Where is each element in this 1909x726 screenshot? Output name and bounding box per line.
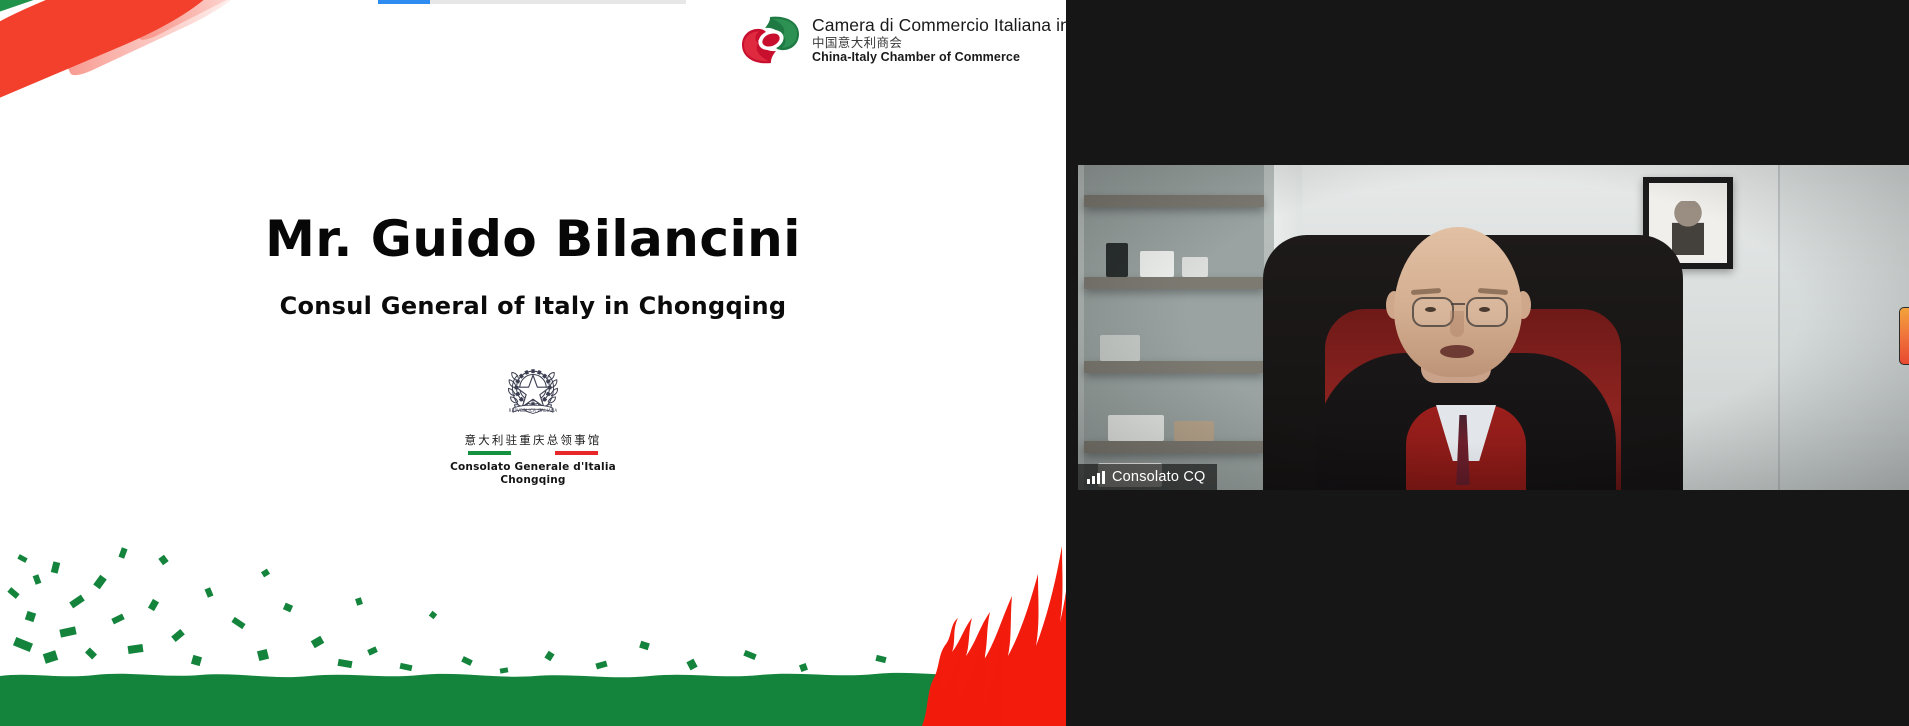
confetti-fragment xyxy=(33,574,42,585)
tricolor-green xyxy=(468,451,511,455)
eyeglass-lens-right xyxy=(1466,297,1508,327)
confetti-fragment xyxy=(25,611,36,622)
cicc-name-italian: Camera di Commercio Italiana in Cina xyxy=(812,15,1066,36)
confetti-fragment xyxy=(148,599,159,611)
confetti-fragment xyxy=(367,646,378,655)
shelf-object xyxy=(1182,257,1208,277)
eyeglass-lens-left xyxy=(1412,297,1454,327)
svg-text:REPVBBLICA ITALIANA: REPVBBLICA ITALIANA xyxy=(509,408,558,413)
shelf-object xyxy=(1108,415,1164,441)
presentation-progress-track[interactable] xyxy=(378,0,686,4)
shared-slide: Camera di Commercio Italiana in Cina 中国意… xyxy=(0,0,1066,726)
consulate-name-italian-line2: Chongqing xyxy=(450,474,616,487)
confetti-fragment xyxy=(639,641,650,650)
consulate-name-chinese: 意大利驻重庆总领事馆 xyxy=(465,432,602,448)
shelf-board xyxy=(1084,361,1264,373)
cicc-swirl-logo-icon xyxy=(740,14,802,66)
participant-sweater xyxy=(1406,405,1526,490)
confetti-fragment xyxy=(686,659,697,671)
shelf-board xyxy=(1084,441,1264,453)
cicc-name-chinese: 中国意大利商会 xyxy=(812,36,1066,51)
shelf-board xyxy=(1084,277,1264,289)
signal-bars-icon xyxy=(1087,471,1105,484)
speaker-title: Consul General of Italy in Chongqing xyxy=(0,294,1066,318)
confetti-fragment xyxy=(13,637,33,652)
participant-mouth xyxy=(1440,345,1474,358)
shelf-object xyxy=(1174,421,1214,441)
italian-tricolor-bar xyxy=(468,451,598,455)
confetti-fragment xyxy=(85,648,97,660)
consulate-name-italian-line1: Consolato Generale d'Italia xyxy=(450,461,616,474)
confetti-fragment xyxy=(43,650,58,664)
confetti-fragment xyxy=(743,650,756,660)
confetti-fragment xyxy=(171,629,185,642)
confetti-fragment xyxy=(544,651,554,661)
cicc-name-english: China-Italy Chamber of Commerce xyxy=(812,50,1066,65)
participant-video-tile[interactable]: Consolato CQ xyxy=(1078,165,1909,490)
consulate-name-italian: Consolato Generale d'Italia Chongqing xyxy=(450,461,616,487)
participant-name-badge: Consolato CQ xyxy=(1078,464,1217,490)
confetti-fragment xyxy=(231,617,245,629)
confetti-fragment xyxy=(355,597,363,606)
wall-panel-right xyxy=(1780,165,1909,490)
shelf-board xyxy=(1084,195,1264,207)
shelf-object xyxy=(1106,243,1128,277)
confetti-fragment xyxy=(257,649,269,661)
confetti-fragment xyxy=(461,656,473,666)
confetti-fragment xyxy=(283,603,293,613)
confetti-fragment xyxy=(191,655,202,666)
confetti-fragment xyxy=(429,611,437,619)
confetti-fragment xyxy=(311,636,325,648)
confetti-fragment xyxy=(51,561,60,573)
speaker-name: Mr. Guido Bilancini xyxy=(0,214,1066,264)
slide-headline-block: Mr. Guido Bilancini Consul General of It… xyxy=(0,214,1066,318)
confetti-fragment xyxy=(111,614,124,625)
participant-nose xyxy=(1450,311,1464,337)
confetti-fragment xyxy=(93,575,107,589)
confetti-fragment xyxy=(69,595,85,609)
brush-stroke-red-fade-secondary xyxy=(118,0,293,43)
cicc-logo: Camera di Commercio Italiana in Cina 中国意… xyxy=(740,14,1066,66)
confetti-fragment xyxy=(261,569,270,578)
shelf-object xyxy=(1140,251,1174,277)
confetti-fragment xyxy=(158,555,168,566)
confetti-fragment xyxy=(59,626,76,637)
participant-eye-right xyxy=(1479,307,1490,312)
confetti-fragment xyxy=(595,661,607,670)
confetti-fragment xyxy=(17,554,27,563)
confetti-fragment xyxy=(118,547,127,558)
brush-splash-red-bottom-right xyxy=(882,526,1066,726)
edge-notification-indicator[interactable] xyxy=(1899,307,1909,365)
shelf-object xyxy=(1100,335,1140,361)
eyeglass-bridge xyxy=(1451,303,1465,305)
presentation-progress-fill xyxy=(378,0,430,4)
tricolor-white xyxy=(511,451,554,455)
meeting-screen: Camera di Commercio Italiana in Cina 中国意… xyxy=(0,0,1909,726)
confetti-fragment xyxy=(205,587,214,598)
cicc-logo-text: Camera di Commercio Italiana in Cina 中国意… xyxy=(812,15,1066,65)
brush-stroke-red-top-left xyxy=(0,0,230,117)
bookshelf-unit xyxy=(1078,165,1293,490)
video-stage: Consolato CQ xyxy=(1066,0,1909,726)
participant-name-label: Consolato CQ xyxy=(1112,469,1205,485)
confetti-fragment xyxy=(337,659,352,668)
tricolor-red xyxy=(555,451,598,455)
video-scene xyxy=(1078,165,1909,490)
brush-stroke-red-fade xyxy=(47,0,264,79)
confetti-fragment xyxy=(128,644,144,654)
italian-republic-emblem-icon: REPVBBLICA ITALIANA xyxy=(500,358,566,424)
framed-photo-figure xyxy=(1672,201,1704,255)
brush-stroke-green-top-left xyxy=(0,0,204,23)
consulate-lockup: REPVBBLICA ITALIANA 意大利驻重庆总领事馆 Consolato… xyxy=(0,358,1066,487)
confetti-fragment xyxy=(7,587,19,599)
participant-eye-left xyxy=(1425,307,1436,312)
